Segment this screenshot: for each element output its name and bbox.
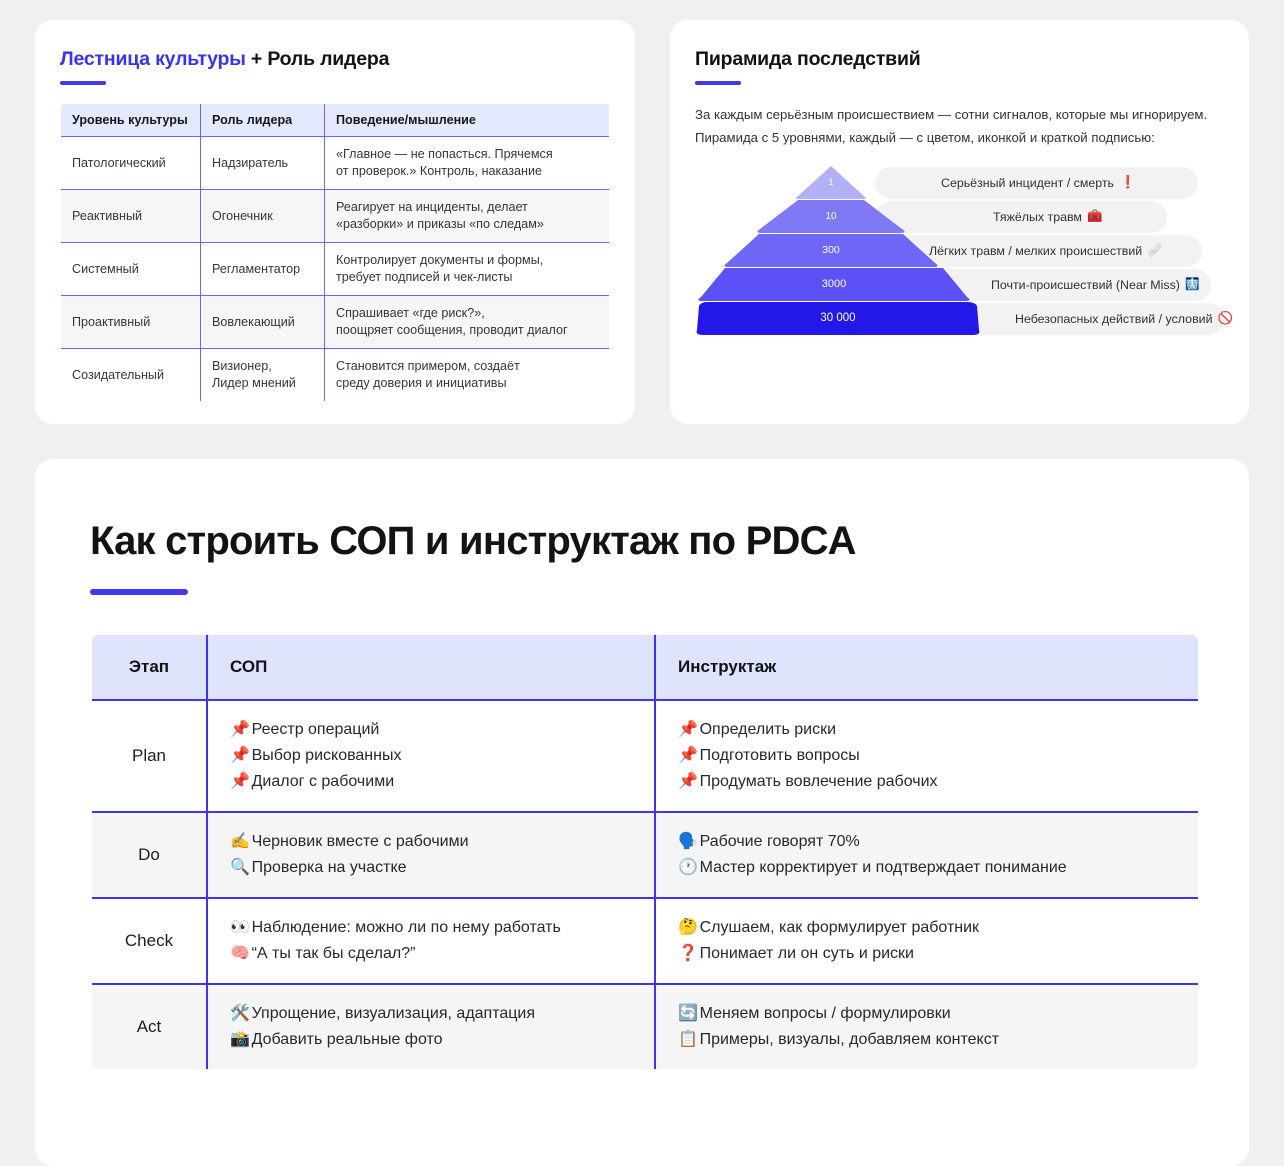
- list-item: 🤔Слушаем, как формулирует работник: [678, 915, 1176, 941]
- behavior-line: «разборки» и приказы «по следам»: [336, 217, 544, 231]
- pin-icon: 📌: [678, 717, 700, 743]
- pyramid-level-3-label: Лёгких травм / мелких происшествий: [929, 244, 1142, 258]
- pdca-card: Как строить СОП и инструктаж по PDCA Эта…: [35, 459, 1249, 1165]
- cell-behavior: Становится примером, создаёт среду довер…: [325, 349, 610, 402]
- list-item-text: Проверка на участке: [252, 859, 407, 876]
- col-header-behavior: Поведение/мышление: [325, 104, 610, 137]
- cell-stage: Act: [91, 984, 207, 1070]
- table-row: Plan 📌Реестр операций 📌Выбор рискованных…: [91, 700, 1199, 812]
- table-row: Act 🛠️Упрощение, визуализация, адаптация…: [91, 984, 1199, 1070]
- list-item-text: Определить риски: [700, 721, 836, 738]
- table-row: Созидательный Визионер, Лидер мнений Ста…: [61, 349, 610, 402]
- cell-sop: ✍️Черновик вместе с рабочими 🔍Проверка н…: [207, 812, 655, 898]
- list-item: 📌Выбор рискованных: [230, 743, 632, 769]
- cell-level: Проактивный: [61, 296, 201, 349]
- brain-icon: 🧠: [230, 941, 252, 967]
- cell-sop: 👀Наблюдение: можно ли по нему работать 🧠…: [207, 898, 655, 984]
- pyramid-level-1-pill: Серьёзный инцидент / смерть ❗: [875, 167, 1198, 199]
- pyramid-level-4-band: 3000: [695, 268, 973, 301]
- pyramid-level-4-count: 3000: [822, 278, 846, 290]
- behavior-line: от проверок.» Контроль, наказание: [336, 164, 542, 178]
- pin-icon: 📌: [230, 769, 252, 795]
- pin-icon: 📌: [678, 743, 700, 769]
- cell-stage: Plan: [91, 700, 207, 812]
- cell-instr: 📌Определить риски 📌Подготовить вопросы 📌…: [655, 700, 1199, 812]
- list-item-text: Упрощение, визуализация, адаптация: [252, 1005, 535, 1022]
- eyes-icon: 👀: [230, 915, 252, 941]
- pyramid-level-5-band: 30 000: [695, 302, 981, 335]
- list-item-text: Продумать вовлечение рабочих: [700, 773, 938, 790]
- cell-role: Визионер, Лидер мнений: [201, 349, 325, 402]
- pyramid-title-rule: [695, 81, 741, 85]
- cell-sop: 🛠️Упрощение, визуализация, адаптация 📸До…: [207, 984, 655, 1070]
- clock-icon: 🕐: [678, 855, 700, 881]
- cell-behavior: «Главное — не попасться. Прячемся от про…: [325, 137, 610, 190]
- list-item: 🧠“А ты так бы сделал?”: [230, 941, 632, 967]
- pyramid-level-1-count: 1: [828, 177, 833, 188]
- col-header-role: Роль лидера: [201, 104, 325, 137]
- behavior-line: требует подписей и чек-листы: [336, 270, 512, 284]
- pin-icon: 📌: [678, 769, 700, 795]
- list-item: 📋Примеры, визуалы, добавляем контекст: [678, 1027, 1176, 1053]
- behavior-line: поощряет сообщения, проводит диалог: [336, 323, 568, 337]
- list-item-text: Добавить реальные фото: [252, 1031, 443, 1048]
- list-item-text: Понимает ли он суть и риски: [700, 945, 914, 962]
- list-item: 📌Подготовить вопросы: [678, 743, 1176, 769]
- list-item: 🔍Проверка на участке: [230, 855, 632, 881]
- pyramid-level-2-pill: Тяжёлых травм 🧰: [875, 201, 1167, 233]
- list-item-text: Выбор рискованных: [252, 747, 402, 764]
- list-item: 📸Добавить реальные фото: [230, 1027, 632, 1053]
- culture-ladder-table-wrap: Уровень культуры Роль лидера Поведение/м…: [60, 103, 610, 402]
- culture-ladder-title-accent: Лестница культуры: [60, 48, 246, 70]
- page-title-rule: [90, 589, 188, 595]
- clipboard-icon: 📋: [678, 1027, 700, 1053]
- cell-role: Огонечник: [201, 190, 325, 243]
- behavior-line: Становится примером, создаёт: [336, 359, 520, 373]
- cell-stage: Do: [91, 812, 207, 898]
- cell-level: Системный: [61, 243, 201, 296]
- behavior-line: среду доверия и инициативы: [336, 376, 507, 390]
- list-item-text: Рабочие говорят 70%: [700, 833, 860, 850]
- list-item-text: Наблюдение: можно ли по нему работать: [252, 919, 561, 936]
- writing-hand-icon: ✍️: [230, 829, 252, 855]
- camera-icon: 📸: [230, 1027, 252, 1053]
- cell-instr: 🤔Слушаем, как формулирует работник ❓Пони…: [655, 898, 1199, 984]
- pyramid-level-2-count: 10: [825, 211, 836, 222]
- toolbox-icon: 🧰: [1087, 209, 1102, 224]
- pyramid-level-1: Серьёзный инцидент / смерть ❗ 1: [695, 166, 1224, 200]
- behavior-line: Спрашивает «где риск?»,: [336, 306, 485, 320]
- list-item: 📌Определить риски: [678, 717, 1176, 743]
- cell-behavior: Реагирует на инциденты, делает «разборки…: [325, 190, 610, 243]
- behavior-line: Реагирует на инциденты, делает: [336, 200, 528, 214]
- prohibited-icon: 🚫: [1218, 311, 1233, 326]
- list-item: ❓Понимает ли он суть и риски: [678, 941, 1176, 967]
- table-row: Реактивный Огонечник Реагирует на инциде…: [61, 190, 610, 243]
- pyramid-level-1-band: 1: [793, 166, 869, 199]
- pyramid-intro-line-1: За каждым серьёзным происшествием — сотн…: [695, 103, 1224, 126]
- list-item-text: Подготовить вопросы: [700, 747, 860, 764]
- pin-icon: 📌: [230, 743, 252, 769]
- table-row: Патологический Надзиратель «Главное — не…: [61, 137, 610, 190]
- table-row: Проактивный Вовлекающий Спрашивает «где …: [61, 296, 610, 349]
- list-item: 📌Продумать вовлечение рабочих: [678, 769, 1176, 795]
- list-item-text: Меняем вопросы / формулировки: [700, 1005, 951, 1022]
- list-item-text: Реестр операций: [252, 721, 380, 738]
- tools-icon: 🛠️: [230, 1001, 252, 1027]
- col-header-instr: Инструктаж: [655, 634, 1199, 700]
- refresh-icon: 🔄: [678, 1001, 700, 1027]
- table-header-row: Этап СОП Инструктаж: [91, 634, 1199, 700]
- list-item: 🕐Мастер корректирует и подтверждает пони…: [678, 855, 1176, 881]
- list-item: 📌Реестр операций: [230, 717, 632, 743]
- top-cards-row: Лестница культуры + Роль лидера Уровень …: [35, 20, 1249, 424]
- list-item: 🛠️Упрощение, визуализация, адаптация: [230, 1001, 632, 1027]
- thinking-face-icon: 🤔: [678, 915, 700, 941]
- speaking-head-icon: 🗣️: [678, 829, 700, 855]
- list-item-text: Диалог с рабочими: [252, 773, 395, 790]
- pyramid-level-4: Почти-происшествий (Near Miss) 🩻 3000: [695, 268, 1224, 302]
- culture-ladder-title: Лестница культуры + Роль лидера: [60, 48, 610, 71]
- list-item-text: Черновик вместе с рабочими: [252, 833, 469, 850]
- list-item: 🗣️Рабочие говорят 70%: [678, 829, 1176, 855]
- pyramid-title: Пирамида последствий: [695, 48, 1224, 71]
- table-row: Системный Регламентатор Контролирует док…: [61, 243, 610, 296]
- cell-role: Вовлекающий: [201, 296, 325, 349]
- pyramid-intro: За каждым серьёзным происшествием — сотн…: [695, 103, 1224, 149]
- cell-level: Созидательный: [61, 349, 201, 402]
- list-item: 📌Диалог с рабочими: [230, 769, 632, 795]
- page-title: Как строить СОП и инструктаж по PDCA: [90, 519, 1194, 563]
- role-line: Визионер,: [212, 359, 272, 373]
- cell-behavior: Контролирует документы и формы, требует …: [325, 243, 610, 296]
- pyramid-level-2: Тяжёлых травм 🧰 10: [695, 200, 1224, 234]
- pin-icon: 📌: [230, 717, 252, 743]
- list-item-text: Примеры, визуалы, добавляем контекст: [700, 1031, 999, 1048]
- list-item-text: Мастер корректирует и подтверждает поним…: [700, 859, 1067, 876]
- pyramid-level-2-band: 10: [754, 200, 908, 233]
- cell-behavior: Спрашивает «где риск?», поощряет сообщен…: [325, 296, 610, 349]
- pyramid-intro-line-2: Пирамида с 5 уровнями, каждый — с цветом…: [695, 126, 1224, 149]
- pyramid-level-5-count: 30 000: [820, 312, 855, 324]
- table-row: Do ✍️Черновик вместе с рабочими 🔍Проверк…: [91, 812, 1199, 898]
- magnifier-icon: 🔍: [230, 855, 252, 881]
- col-header-level: Уровень культуры: [61, 104, 201, 137]
- pdca-table: Этап СОП Инструктаж Plan 📌Реестр операци…: [90, 633, 1200, 1070]
- pyramid-level-4-label: Почти-происшествий (Near Miss): [991, 278, 1180, 292]
- consequence-pyramid-card: Пирамида последствий За каждым серьёзным…: [670, 20, 1249, 424]
- pyramid-level-3-count: 300: [822, 244, 840, 256]
- col-header-stage: Этап: [91, 634, 207, 700]
- cell-instr: 🗣️Рабочие говорят 70% 🕐Мастер корректиру…: [655, 812, 1199, 898]
- pyramid-level-2-label: Тяжёлых травм: [993, 210, 1082, 224]
- cell-sop: 📌Реестр операций 📌Выбор рискованных 📌Диа…: [207, 700, 655, 812]
- cell-role: Надзиратель: [201, 137, 325, 190]
- behavior-line: «Главное — не попасться. Прячемся: [336, 147, 553, 161]
- col-header-sop: СОП: [207, 634, 655, 700]
- bandage-icon: 🩹: [1147, 243, 1162, 258]
- cell-level: Реактивный: [61, 190, 201, 243]
- list-item: 🔄Меняем вопросы / формулировки: [678, 1001, 1176, 1027]
- list-item: 👀Наблюдение: можно ли по нему работать: [230, 915, 632, 941]
- pyramid-level-3-band: 300: [721, 234, 941, 267]
- pyramid-chart: Серьёзный инцидент / смерть ❗ 1 Тяжёлых …: [695, 166, 1224, 336]
- list-item-text: “А ты так бы сделал?”: [252, 945, 416, 962]
- table-row: Check 👀Наблюдение: можно ли по нему рабо…: [91, 898, 1199, 984]
- cell-instr: 🔄Меняем вопросы / формулировки 📋Примеры,…: [655, 984, 1199, 1070]
- list-item: ✍️Черновик вместе с рабочими: [230, 829, 632, 855]
- cell-role: Регламентатор: [201, 243, 325, 296]
- pyramid-level-1-label: Серьёзный инцидент / смерть: [941, 176, 1114, 190]
- culture-ladder-title-rule: [60, 81, 106, 85]
- pyramid-level-5-label: Небезопасных действий / условий: [1015, 312, 1213, 326]
- infographic-page: Лестница культуры + Роль лидера Уровень …: [0, 0, 1284, 1093]
- cell-stage: Check: [91, 898, 207, 984]
- pyramid-level-5: Небезопасных действий / условий 🚫 30 000: [695, 302, 1224, 336]
- xray-icon: 🩻: [1185, 277, 1200, 292]
- table-header-row: Уровень культуры Роль лидера Поведение/м…: [61, 104, 610, 137]
- culture-ladder-table: Уровень культуры Роль лидера Поведение/м…: [60, 103, 610, 402]
- culture-ladder-card: Лестница культуры + Роль лидера Уровень …: [35, 20, 635, 424]
- question-mark-icon: ❓: [678, 941, 700, 967]
- pyramid-level-3: Лёгких травм / мелких происшествий 🩹 300: [695, 234, 1224, 268]
- cell-level: Патологический: [61, 137, 201, 190]
- behavior-line: Контролирует документы и формы,: [336, 253, 543, 267]
- culture-ladder-title-rest: + Роль лидера: [246, 48, 390, 70]
- role-line: Лидер мнений: [212, 376, 296, 390]
- alert-icon: ❗: [1120, 175, 1135, 190]
- list-item-text: Слушаем, как формулирует работник: [700, 919, 979, 936]
